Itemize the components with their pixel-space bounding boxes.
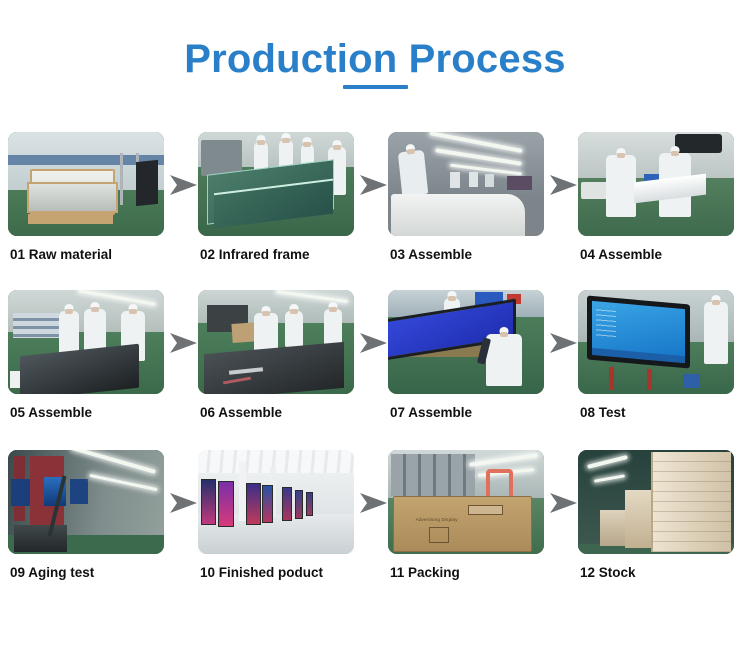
step-caption: 11 Packing bbox=[390, 564, 580, 581]
step-photo bbox=[198, 450, 354, 554]
process-step-04[interactable]: 04 Assemble bbox=[578, 132, 738, 282]
step-caption: 05 Assemble bbox=[10, 404, 200, 421]
step-caption: 06 Assemble bbox=[200, 404, 390, 421]
arrow-right-icon bbox=[360, 172, 388, 198]
process-step-01[interactable]: 01 Raw material bbox=[8, 132, 168, 282]
step-caption: 01 Raw material bbox=[10, 246, 200, 263]
process-grid: 01 Raw material 02 Infrared frame bbox=[0, 120, 750, 658]
arrow-right-icon bbox=[550, 172, 578, 198]
step-caption: 04 Assemble bbox=[580, 246, 750, 263]
step-photo bbox=[8, 290, 164, 394]
step-photo bbox=[388, 290, 544, 394]
step-photo bbox=[578, 290, 734, 394]
step-photo bbox=[8, 132, 164, 236]
step-caption: 12 Stock bbox=[580, 564, 750, 581]
process-step-06[interactable]: 06 Assemble bbox=[198, 290, 358, 440]
carton-printed-text: Advertising Display bbox=[416, 517, 458, 522]
step-caption: 10 Finished poduct bbox=[200, 564, 390, 581]
process-step-07[interactable]: 07 Assemble bbox=[388, 290, 548, 440]
step-caption: 08 Test bbox=[580, 404, 750, 421]
step-photo bbox=[388, 132, 544, 236]
step-photo bbox=[578, 450, 734, 554]
title-underline bbox=[343, 85, 408, 89]
process-row: 09 Aging test 10 Finished poduct bbox=[0, 450, 750, 610]
arrow-right-icon bbox=[170, 172, 198, 198]
process-row: 05 Assemble 06 Assemble bbox=[0, 290, 750, 450]
page-title: Production Process bbox=[0, 36, 750, 82]
process-step-11[interactable]: Advertising Display 11 Packing bbox=[388, 450, 548, 600]
process-step-09[interactable]: 09 Aging test bbox=[8, 450, 168, 600]
step-photo bbox=[8, 450, 164, 554]
process-step-02[interactable]: 02 Infrared frame bbox=[198, 132, 358, 282]
step-photo bbox=[578, 132, 734, 236]
arrow-right-icon bbox=[170, 490, 198, 516]
step-caption: 02 Infrared frame bbox=[200, 246, 390, 263]
step-caption: 09 Aging test bbox=[10, 564, 200, 581]
process-step-05[interactable]: 05 Assemble bbox=[8, 290, 168, 440]
arrow-right-icon bbox=[170, 330, 198, 356]
process-step-08[interactable]: 08 Test bbox=[578, 290, 738, 440]
arrow-right-icon bbox=[360, 490, 388, 516]
step-photo: Advertising Display bbox=[388, 450, 544, 554]
arrow-right-icon bbox=[360, 330, 388, 356]
step-caption: 03 Assemble bbox=[390, 246, 580, 263]
process-step-12[interactable]: 12 Stock bbox=[578, 450, 738, 600]
process-row: 01 Raw material 02 Infrared frame bbox=[0, 132, 750, 292]
step-caption: 07 Assemble bbox=[390, 404, 580, 421]
step-photo bbox=[198, 132, 354, 236]
page-header: Production Process bbox=[0, 0, 750, 120]
process-step-10[interactable]: 10 Finished poduct bbox=[198, 450, 358, 600]
arrow-right-icon bbox=[550, 490, 578, 516]
step-photo bbox=[198, 290, 354, 394]
process-step-03[interactable]: 03 Assemble bbox=[388, 132, 548, 282]
arrow-right-icon bbox=[550, 330, 578, 356]
